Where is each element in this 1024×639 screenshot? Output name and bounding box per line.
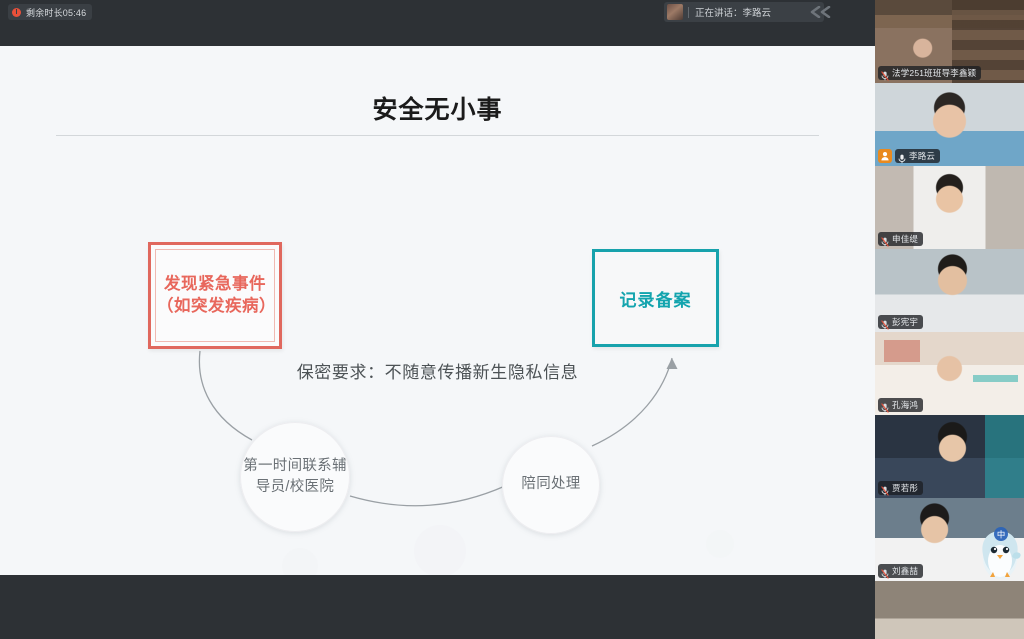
inner-frame: 发现紧急事件（如突发疾病） — [155, 249, 275, 342]
participant-name: 贾若彤 — [892, 482, 918, 494]
shared-slide: 安全无小事 发现紧急事件（如突发疾病） 记录备案 保密要求：不随意传播新生隐私信… — [0, 46, 875, 575]
participant-name: 彭宪宇 — [892, 316, 918, 328]
flow-connectors — [0, 46, 875, 575]
participant-name: 孔海鸿 — [892, 399, 918, 411]
alert-circle-icon — [12, 8, 21, 17]
flow-node-emergency: 发现紧急事件（如突发疾病） — [148, 242, 282, 349]
penguin-sticker: 中 — [976, 525, 1022, 581]
now-speaking-label: 正在讲话：李路云 — [695, 5, 771, 19]
mic-muted-icon — [881, 68, 889, 78]
mic-on-icon — [898, 151, 906, 161]
meeting-top-bar: 剩余时长05:46 正在讲话：李路云 — [0, 0, 875, 46]
now-speaking-pill: 正在讲话：李路云 — [664, 2, 824, 22]
participant-tile[interactable]: 中 刘鑫喆 — [875, 498, 1024, 581]
participant-tile[interactable] — [875, 581, 1024, 639]
mic-muted-icon — [881, 483, 889, 493]
participant-nameplate: 孔海鸿 — [878, 398, 923, 412]
divider — [688, 7, 689, 18]
flow-node-emergency-label: 发现紧急事件（如突发疾病） — [157, 274, 273, 318]
flow-node-contact: 第一时间联系辅导员/校医院 — [240, 422, 350, 532]
participant-nameplate: 李路云 — [895, 149, 940, 163]
participant-name: 法学251班班导李鑫颖 — [892, 67, 976, 79]
flow-node-accompany-label: 陪同处理 — [521, 474, 580, 495]
remaining-time-label: 剩余时长05:46 — [26, 6, 86, 19]
meeting-window: 剩余时长05:46 正在讲话：李路云 安全无小事 — [0, 0, 1024, 639]
svg-text:中: 中 — [997, 529, 1005, 539]
participant-name: 申佳缇 — [892, 233, 918, 245]
participant-nameplate: 法学251班班导李鑫颖 — [878, 66, 981, 80]
meeting-bottom-strip — [0, 575, 875, 639]
confidentiality-note: 保密要求：不随意传播新生隐私信息 — [0, 358, 875, 383]
participant-tile[interactable]: 李路云 — [875, 83, 1024, 166]
remaining-time-indicator: 剩余时长05:46 — [8, 4, 92, 20]
mic-muted-icon — [881, 400, 889, 410]
host-badge — [878, 149, 892, 163]
mic-muted-icon — [881, 234, 889, 244]
flow-node-accompany: 陪同处理 — [502, 436, 600, 534]
flow-node-record-label: 记录备案 — [620, 286, 692, 311]
double-chevron-left-icon[interactable] — [804, 4, 838, 20]
participant-tile[interactable]: 贾若彤 — [875, 415, 1024, 498]
participant-nameplate: 刘鑫喆 — [878, 564, 923, 578]
participant-tile[interactable]: 申佳缇 — [875, 166, 1024, 249]
participant-rail[interactable]: 法学251班班导李鑫颖 李路云 申佳缇 — [875, 0, 1024, 639]
participant-nameplate: 贾若彤 — [878, 481, 923, 495]
flow-node-contact-label: 第一时间联系辅导员/校医院 — [240, 456, 350, 498]
mic-muted-icon — [881, 317, 889, 327]
participant-name: 刘鑫喆 — [892, 565, 918, 577]
participant-tile[interactable]: 孔海鸿 — [875, 332, 1024, 415]
participant-nameplate: 彭宪宇 — [878, 315, 923, 329]
flow-node-record: 记录备案 — [592, 249, 719, 347]
video-feed — [875, 581, 1024, 639]
participant-tile[interactable]: 法学251班班导李鑫颖 — [875, 0, 1024, 83]
participant-name: 李路云 — [909, 150, 935, 162]
mic-muted-icon — [881, 566, 889, 576]
participant-nameplate: 申佳缇 — [878, 232, 923, 246]
participant-tile[interactable]: 彭宪宇 — [875, 249, 1024, 332]
speaker-avatar — [667, 4, 683, 20]
